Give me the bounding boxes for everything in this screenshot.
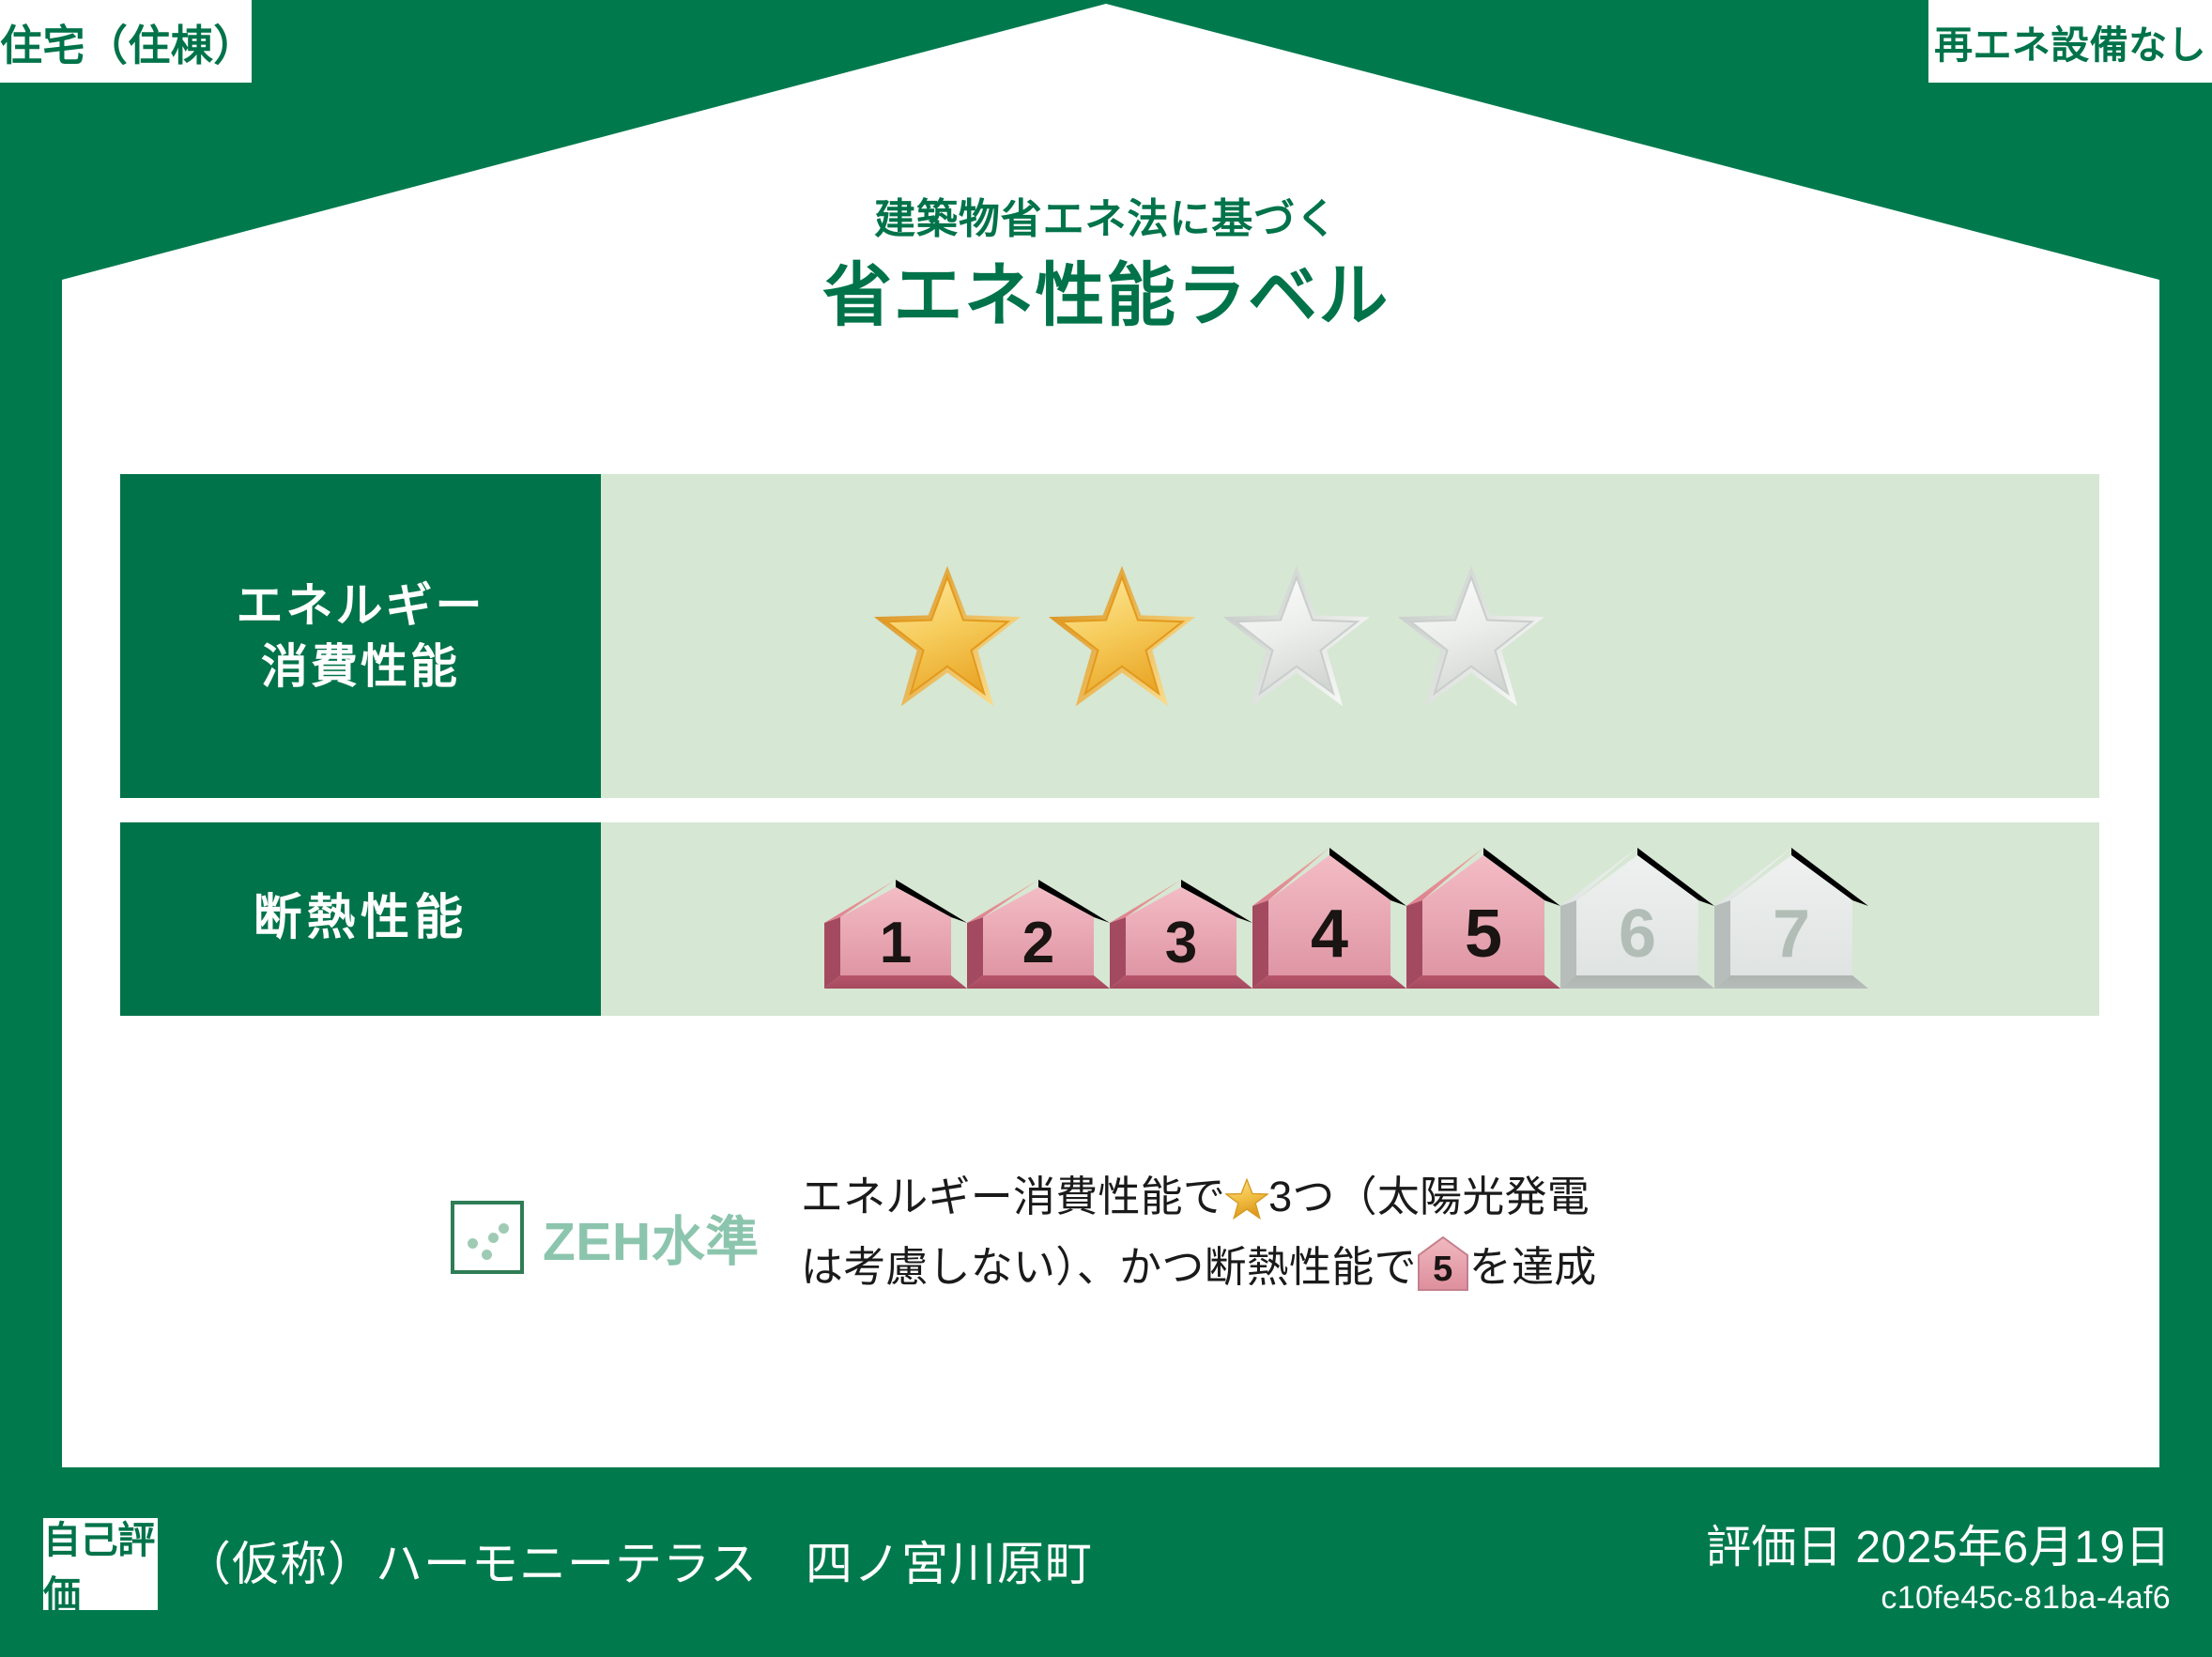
house-badge-icon: 1	[824, 880, 967, 990]
house-badge-value: 5	[1417, 1251, 1469, 1287]
star-icon	[1391, 560, 1551, 713]
insulation-level-value: 4	[1252, 900, 1406, 968]
zeh-dots-icon	[451, 1201, 524, 1274]
house-badge-icon: 6	[1560, 848, 1714, 990]
corner-tag-building-type: 住宅（住棟）	[0, 0, 252, 83]
star-icon	[1042, 560, 1202, 713]
page-title-block: 建築物省エネ法に基づく 省エネ性能ラベル	[0, 199, 2212, 330]
property-name: （仮称）ハーモニーテラス 四ノ宮川原町	[184, 1527, 1093, 1594]
star-rating	[868, 560, 1551, 713]
insulation-level-value: 2	[967, 914, 1110, 973]
insulation-level-value: 1	[824, 914, 967, 973]
zeh-label: ZEH水準	[543, 1199, 760, 1276]
evaluation-id: c10fe45c-81ba-4af6	[1881, 1580, 2171, 1617]
insulation-performance-label-text: 断熱性能	[253, 887, 469, 951]
house-badge-icon: 5	[1417, 1235, 1469, 1294]
zeh-description-line1-part2: 3つ（太陽光発電	[1268, 1173, 1590, 1220]
energy-performance-row: エネルギー 消費性能	[120, 474, 2099, 798]
page-subtitle: 建築物省エネ法に基づく	[0, 199, 2212, 240]
energy-performance-label-line2: 消費性能	[261, 637, 460, 698]
zeh-badge: ZEH水準	[451, 1199, 760, 1276]
house-badge-icon: 4	[1252, 848, 1406, 990]
insulation-performance-label: 断熱性能	[120, 822, 601, 1016]
insulation-level-value: 5	[1406, 900, 1560, 968]
evaluation-date: 評価日 2025年6月19日	[1706, 1510, 2171, 1575]
star-icon	[868, 560, 1027, 713]
insulation-performance-body: 1234567	[601, 822, 2099, 1016]
corner-tag-renewable-energy-label: 再エネ設備なし	[1934, 13, 2206, 69]
corner-tag-renewable-energy: 再エネ設備なし	[1928, 0, 2212, 83]
star-icon	[1217, 560, 1376, 713]
page-title: 省エネ性能ラベル	[0, 261, 2212, 330]
self-evaluation-badge: 自己評価	[43, 1518, 158, 1610]
house-badge-icon: 2	[967, 880, 1110, 990]
insulation-level-scale: 1234567	[824, 848, 1868, 990]
insulation-level-value: 7	[1714, 900, 1868, 968]
self-evaluation-badge-label: 自己評価	[43, 1510, 158, 1619]
zeh-description-line2-part1: は考慮しない）、かつ断熱性能で	[801, 1243, 1417, 1291]
zeh-description-line2-part2: を達成	[1469, 1243, 1597, 1291]
corner-tag-building-type-label: 住宅（住棟）	[0, 11, 252, 72]
zeh-description-line1: エネルギー消費性能で 3つ（太陽光発電	[801, 1167, 1597, 1235]
zeh-description-line1-part1: エネルギー消費性能で	[801, 1173, 1225, 1220]
house-badge-icon: 7	[1714, 848, 1868, 990]
star-icon	[1225, 1175, 1268, 1235]
zeh-section: ZEH水準 エネルギー消費性能で 3つ（太陽光発電 は考慮しない）、かつ断熱性能…	[451, 1167, 1596, 1297]
energy-performance-label: エネルギー 消費性能	[120, 474, 601, 798]
insulation-level-value: 3	[1110, 914, 1252, 973]
energy-performance-label-line1: エネルギー	[237, 575, 485, 637]
zeh-description: エネルギー消費性能で 3つ（太陽光発電 は考慮しない）、かつ断熱性能で	[801, 1167, 1597, 1297]
energy-performance-body	[601, 474, 2099, 798]
insulation-level-value: 6	[1560, 900, 1714, 968]
house-badge-icon: 5	[1406, 848, 1560, 990]
house-badge-icon: 3	[1110, 880, 1252, 990]
zeh-description-line2: は考慮しない）、かつ断熱性能で 5 を達成	[801, 1235, 1597, 1297]
insulation-performance-row: 断熱性能 1234567	[120, 822, 2099, 1016]
